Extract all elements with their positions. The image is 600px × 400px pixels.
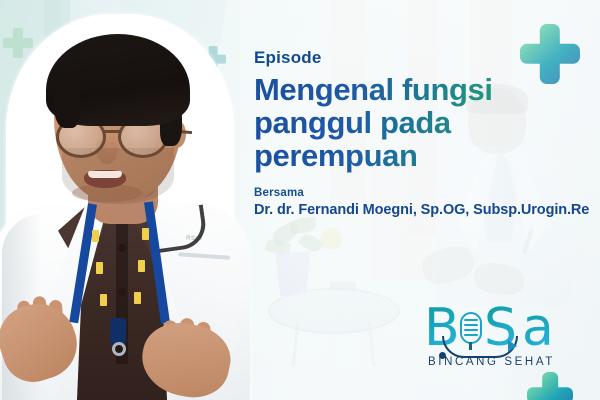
episode-title-line-3: perempuan [254,140,590,173]
bisa-wordmark: B S a [424,306,584,356]
episode-title-line-2: panggul pada [254,107,590,140]
portrait-teeth [88,171,122,178]
episode-title-line-1: Mengenal fungsi [254,74,590,107]
stethoscope-curve-icon [442,336,518,358]
bersama-label: Bersama [254,187,590,199]
lanyard-print [96,262,103,274]
video-thumbnail: RSUI [0,0,600,400]
lanyard-print [100,294,107,306]
portrait-shirt-button [118,244,126,252]
speaker-name: Dr. dr. Fernandi Moegni, Sp.OG, Subsp.Ur… [254,202,590,218]
lanyard-print [134,292,141,304]
thumbnail-text-block: Episode Mengenal fungsi panggul pada per… [254,48,590,218]
lanyard-print [142,228,149,240]
logo-letter-a: a [522,302,554,354]
lanyard-print [138,260,145,272]
lanyard-clip [110,318,126,344]
logo-tagline: BINCANG SEHAT [428,356,555,368]
speaker-portrait: RSUI [0,8,260,400]
bisa-logo: B S a BINCANG SEHAT [424,306,584,380]
episode-title: Mengenal fungsi panggul pada perempuan [254,74,590,173]
eyeglass-bridge [104,130,122,133]
episode-label: Episode [254,48,590,68]
stethoscope-arrow-icon [508,340,517,352]
lanyard-print [92,230,99,242]
lanyard-ring [112,342,126,356]
portrait-shirt-button [118,288,126,296]
